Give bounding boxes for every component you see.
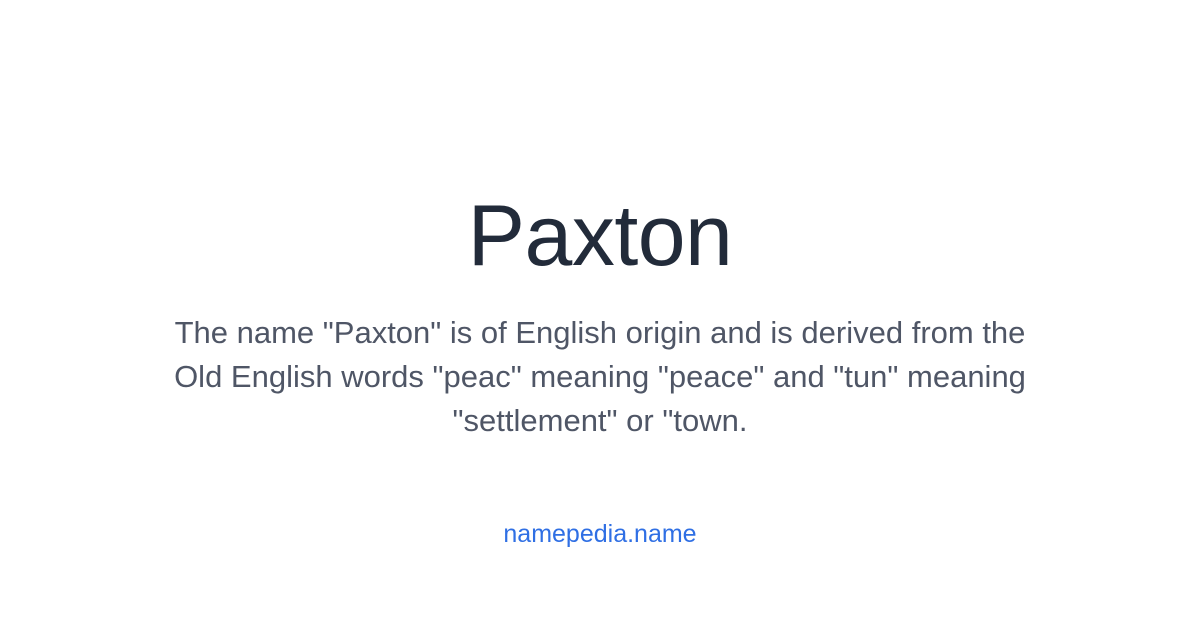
description-container: The name "Paxton" is of English origin a… xyxy=(155,311,1045,443)
page-title: Paxton xyxy=(0,186,1200,286)
page-title-container: Paxton xyxy=(0,186,1200,286)
site-link[interactable]: namepedia.name xyxy=(503,520,696,548)
name-origin-description: The name "Paxton" is of English origin a… xyxy=(155,311,1045,443)
name-info-card: Paxton The name "Paxton" is of English o… xyxy=(0,0,1200,630)
footer-container: namepedia.name xyxy=(0,518,1200,550)
